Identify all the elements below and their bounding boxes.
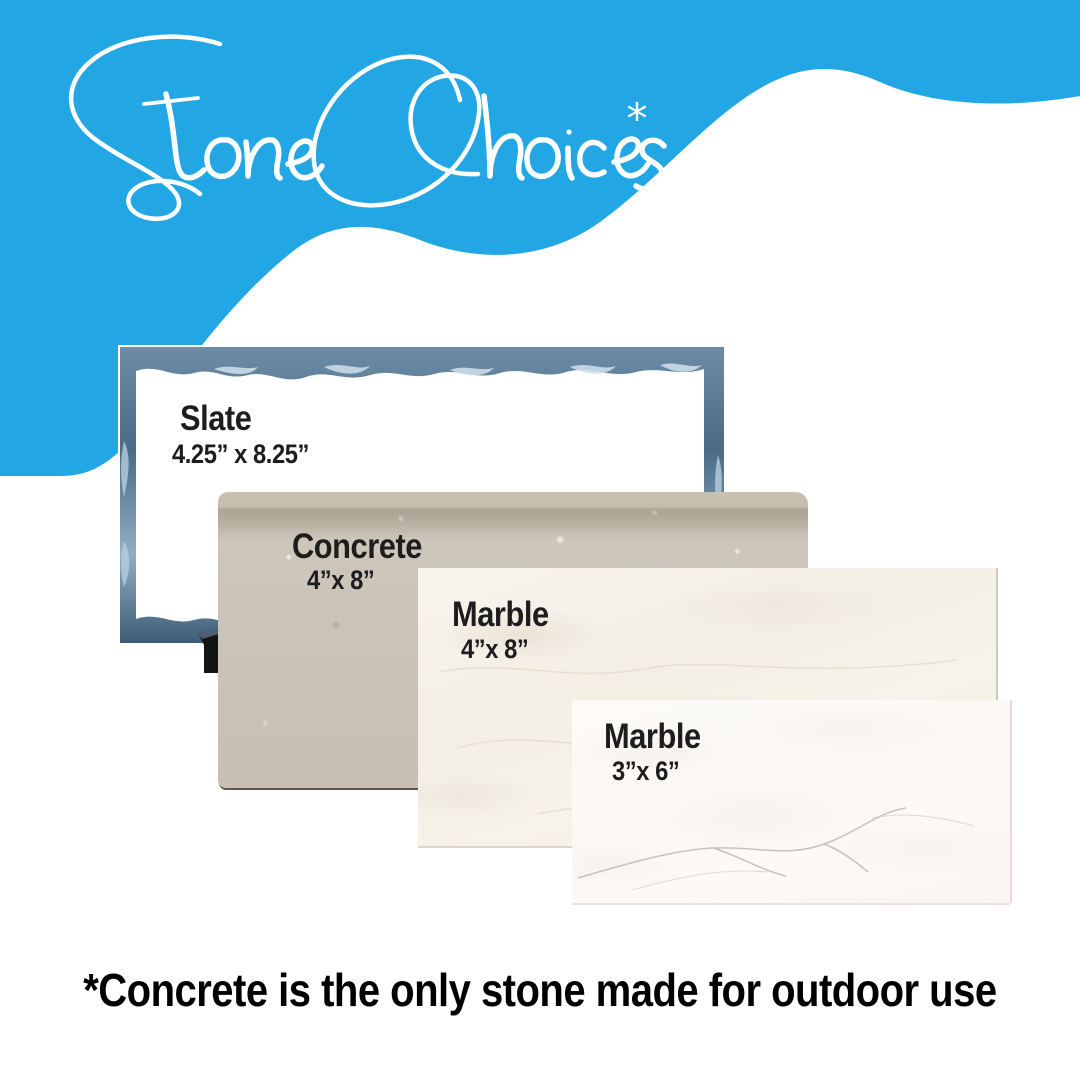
tile-slate-name: Slate xyxy=(180,400,251,438)
footnote-text: *Concrete is the only stone made for out… xyxy=(83,962,996,1018)
tile-slate-size: 4.25” x 8.25” xyxy=(172,439,309,469)
title-asterisk-icon: * xyxy=(620,102,654,136)
page-title: Stone Choices xyxy=(48,28,668,228)
tile-marble-3x6-name: Marble xyxy=(604,718,701,756)
tile-marble-4x8-size: 4”x 8” xyxy=(461,634,528,664)
page-title-script: Stone Choices xyxy=(48,28,668,228)
tile-marble-3x6-size: 3”x 6” xyxy=(612,756,679,786)
tile-marble-4x8-name: Marble xyxy=(452,596,549,634)
tile-concrete-name: Concrete xyxy=(292,528,422,566)
stone-choices-infographic: Stone Choices xyxy=(0,0,1080,1080)
tile-concrete-size: 4”x 8” xyxy=(307,565,374,595)
footnote: *Concrete is the only stone made for out… xyxy=(0,962,1080,1018)
